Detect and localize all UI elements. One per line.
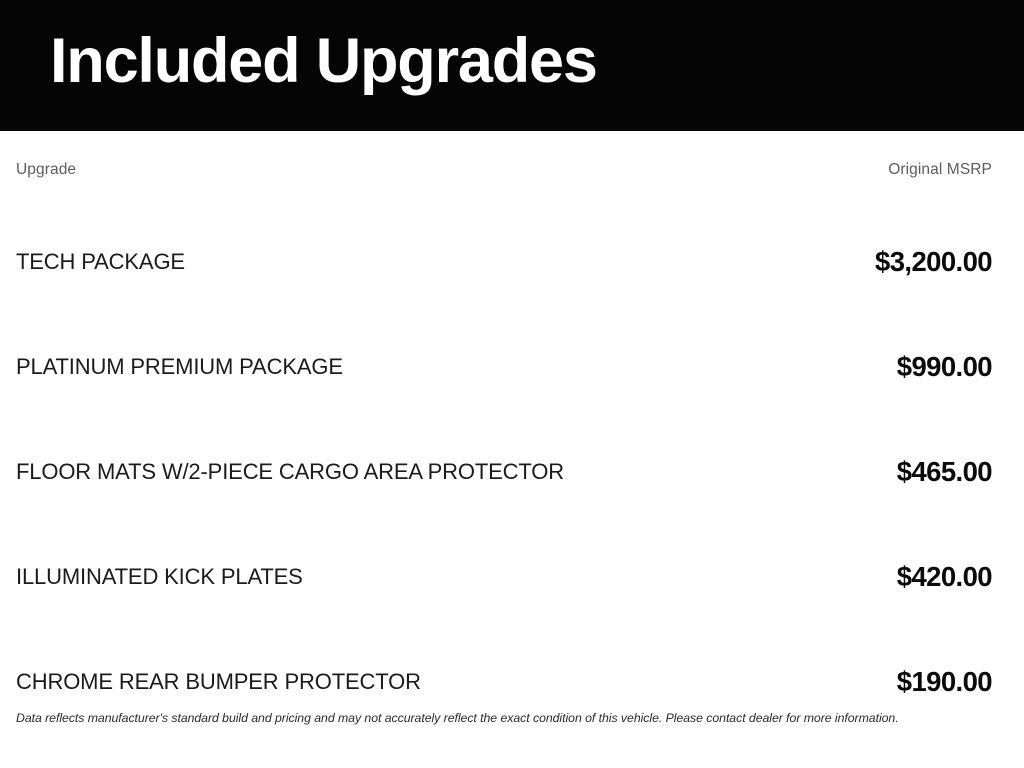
upgrade-price: $420.00 — [620, 524, 1024, 629]
upgrades-table-container: Upgrade Original MSRP TECH PACKAGE$3,200… — [0, 131, 1024, 734]
page-title: Included Upgrades — [50, 26, 597, 97]
column-header-upgrade: Upgrade — [0, 131, 620, 209]
upgrades-table-head: Upgrade Original MSRP — [0, 131, 1024, 209]
upgrade-price: $3,200.00 — [620, 209, 1024, 314]
upgrade-price: $990.00 — [620, 314, 1024, 419]
table-header-row: Upgrade Original MSRP — [0, 131, 1024, 209]
table-row: PLATINUM PREMIUM PACKAGE$990.00 — [0, 314, 1024, 419]
upgrade-price: $465.00 — [620, 419, 1024, 524]
column-header-original-msrp: Original MSRP — [620, 131, 1024, 209]
table-row: TECH PACKAGE$3,200.00 — [0, 209, 1024, 314]
upgrade-name: FLOOR MATS W/2-PIECE CARGO AREA PROTECTO… — [0, 419, 620, 524]
page-header-band: Included Upgrades — [0, 0, 1024, 131]
upgrade-name: TECH PACKAGE — [0, 209, 620, 314]
upgrade-name: PLATINUM PREMIUM PACKAGE — [0, 314, 620, 419]
upgrades-table-body: TECH PACKAGE$3,200.00PLATINUM PREMIUM PA… — [0, 209, 1024, 734]
table-row: ILLUMINATED KICK PLATES$420.00 — [0, 524, 1024, 629]
upgrade-name: ILLUMINATED KICK PLATES — [0, 524, 620, 629]
disclaimer-text: Data reflects manufacturer's standard bu… — [16, 711, 1008, 727]
table-row: FLOOR MATS W/2-PIECE CARGO AREA PROTECTO… — [0, 419, 1024, 524]
included-upgrades-page: Included Upgrades Upgrade Original MSRP … — [0, 0, 1024, 768]
upgrades-table: Upgrade Original MSRP TECH PACKAGE$3,200… — [0, 131, 1024, 734]
